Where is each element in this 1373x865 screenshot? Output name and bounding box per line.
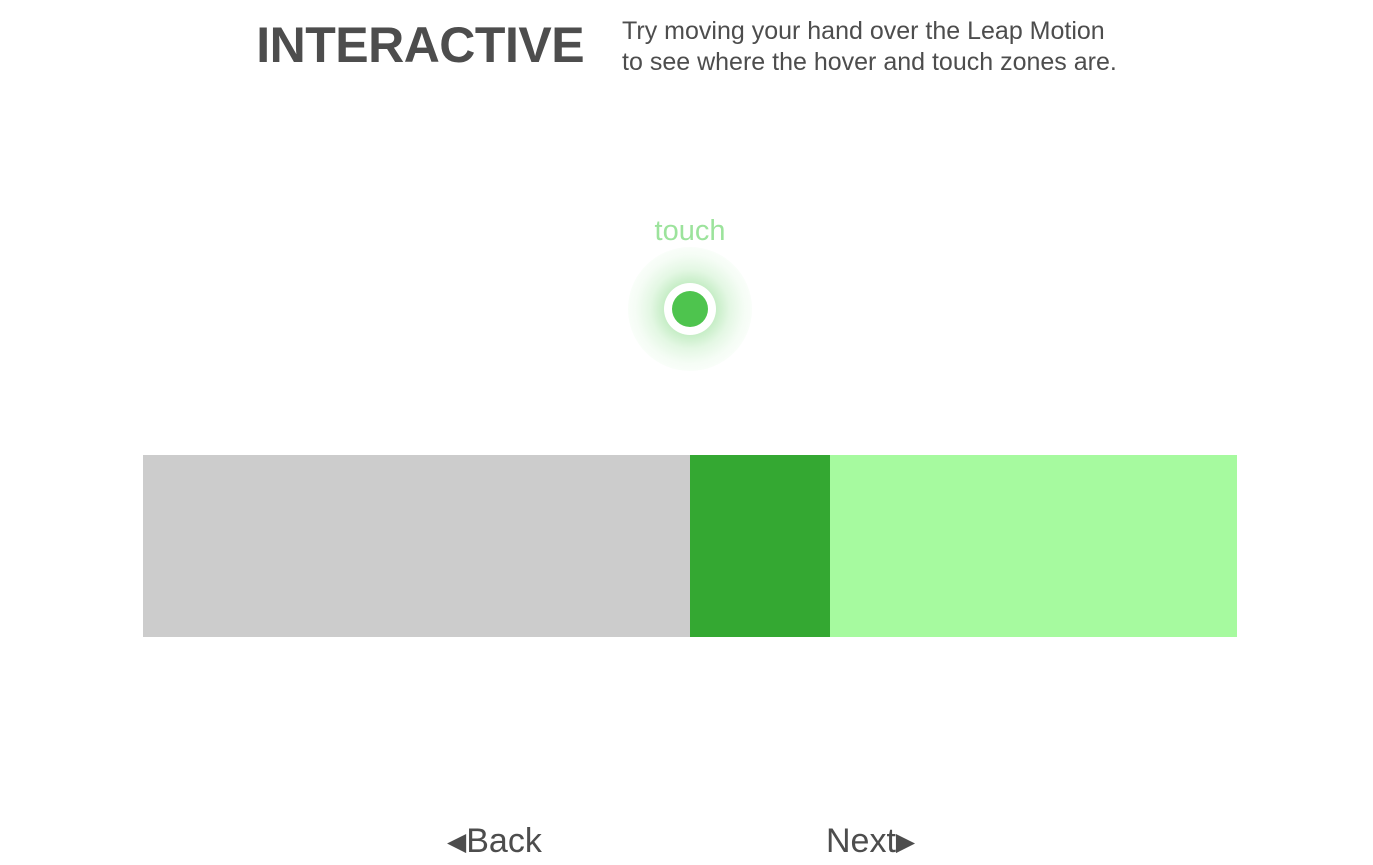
page-subtitle: Try moving your hand over the Leap Motio…: [622, 14, 1117, 78]
back-button-label: Back: [466, 822, 542, 860]
footer-navigation: ◀Back Next▶: [0, 818, 1373, 864]
header-content: INTERACTIVE Try moving your hand over th…: [256, 0, 1117, 78]
page-title: INTERACTIVE: [256, 14, 584, 76]
zone-bar: [143, 455, 1237, 637]
back-button[interactable]: ◀Back: [447, 818, 542, 865]
next-button-label: Next: [826, 822, 896, 860]
zone-segment-hover: [830, 455, 1237, 637]
touch-indicator-dot: [672, 291, 708, 327]
zone-segment-touch: [690, 455, 830, 637]
arrow-left-icon: ◀: [447, 828, 466, 856]
page-header: INTERACTIVE Try moving your hand over th…: [0, 0, 1373, 95]
arrow-right-icon: ▶: [896, 828, 915, 856]
next-button[interactable]: Next▶: [826, 818, 915, 865]
zone-segment-none: [143, 455, 690, 637]
touch-indicator-label: touch: [550, 214, 830, 248]
touch-indicator-ring: [664, 283, 716, 335]
